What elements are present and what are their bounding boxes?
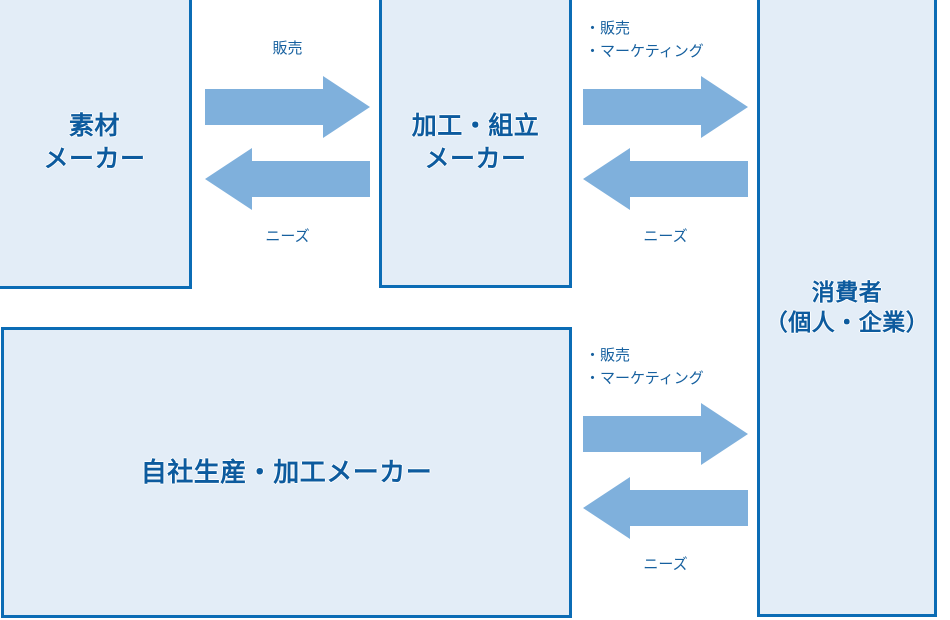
flow-label-sell-marketing-inhouse-to-consumer: ・販売 ・マーケティング (585, 345, 755, 390)
node-inhouse-production-maker-label: 自社生産・加工メーカー (141, 455, 433, 489)
flow-label-sell-marketing-process-to-consumer: ・販売 ・マーケティング (585, 18, 755, 63)
diagram-canvas: 素材 メーカー 加工・組立 メーカー 消費者 （個人・企業） 自社生産・加工メー… (0, 0, 950, 620)
node-material-maker-label: 素材 メーカー (43, 110, 145, 176)
arrow-right-icon (205, 76, 370, 138)
arrow-right-icon (583, 76, 748, 138)
node-processing-assembly-maker: 加工・組立 メーカー (379, 0, 572, 288)
arrow-right-icon (583, 403, 748, 465)
node-inhouse-production-maker: 自社生産・加工メーカー (1, 327, 572, 618)
flow-label-needs-consumer-to-inhouse: ニーズ (583, 554, 748, 577)
node-material-maker: 素材 メーカー (0, 0, 192, 289)
arrow-left-icon (205, 148, 370, 210)
node-consumer-label: 消費者 （個人・企業） (765, 277, 930, 338)
arrow-left-icon (583, 148, 748, 210)
node-consumer: 消費者 （個人・企業） (757, 0, 937, 617)
flow-label-needs-consumer-to-process: ニーズ (583, 226, 748, 249)
node-processing-assembly-maker-label: 加工・組立 メーカー (412, 110, 540, 176)
arrow-left-icon (583, 477, 748, 539)
flow-label-sell-material-to-process: 販売 (205, 38, 370, 61)
flow-label-needs-process-to-material: ニーズ (205, 226, 370, 249)
